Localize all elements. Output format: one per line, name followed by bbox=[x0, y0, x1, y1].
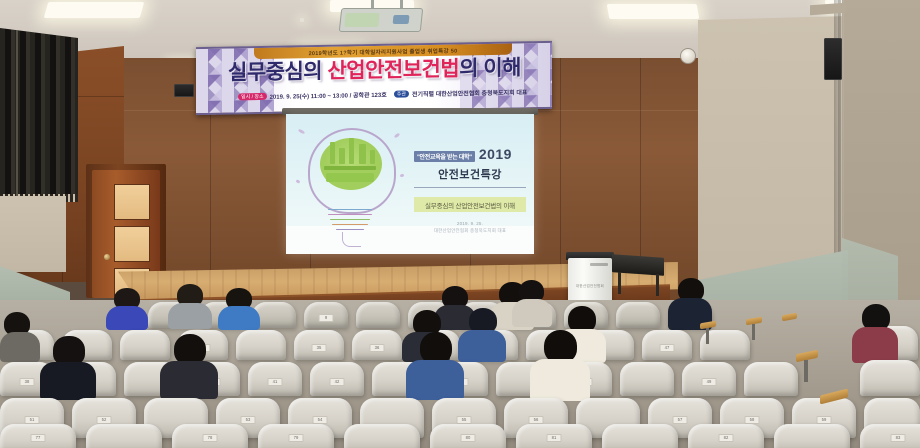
seat-number: 42 bbox=[330, 378, 345, 386]
banner-when-text: 2019. 9. 25(수) 11:00 ~ 13:00 / 공학관 123호 bbox=[270, 90, 387, 101]
city-base bbox=[326, 173, 374, 182]
audience-person bbox=[512, 280, 552, 326]
spark-icon bbox=[296, 179, 301, 184]
slide-title: 안전보건특강 bbox=[414, 166, 526, 182]
seat-number: 77 bbox=[31, 434, 46, 442]
seat[interactable]: 49 bbox=[682, 362, 736, 396]
slide-date: 2019. 9. 25. bbox=[414, 221, 526, 226]
blackout-curtain[interactable] bbox=[0, 28, 78, 200]
seat-number: 41 bbox=[268, 378, 283, 386]
seat[interactable] bbox=[236, 330, 286, 360]
seat-number: 54 bbox=[313, 416, 328, 424]
audience-person bbox=[40, 336, 96, 396]
seat[interactable] bbox=[344, 424, 420, 448]
spark-icon bbox=[400, 173, 405, 177]
seat-number: 59 bbox=[817, 416, 832, 424]
seat-number: 82 bbox=[719, 434, 734, 442]
seat-number: 81 bbox=[547, 434, 562, 442]
seat-number: 79 bbox=[289, 434, 304, 442]
banner-chip-host: 주관 bbox=[394, 90, 409, 97]
event-banner: 2019학년도 1?학기 대학일자리지원사업 졸업생 취업특강 50 실무중심의… bbox=[196, 41, 552, 115]
wall-clock-icon bbox=[680, 48, 696, 64]
slide-subtitle-band: 실무중심의 산업안전보건법의 이해 bbox=[414, 197, 526, 212]
seat[interactable] bbox=[860, 360, 920, 396]
seat-number: 36 bbox=[370, 344, 385, 352]
table-leg bbox=[618, 272, 621, 294]
seat[interactable]: 9 bbox=[304, 302, 348, 328]
seat[interactable]: 82 bbox=[688, 424, 764, 448]
city-bar bbox=[370, 150, 375, 164]
slide-year: 2019 bbox=[479, 146, 512, 162]
projection-screen: "안전교육을 받는 대학" 2019 안전보건특강 실무중심의 산업안전보건법의… bbox=[286, 114, 534, 254]
seat-number: 49 bbox=[702, 378, 717, 386]
seat-number: 47 bbox=[660, 344, 675, 352]
ceiling-light bbox=[607, 4, 700, 19]
audience-person bbox=[0, 312, 40, 360]
banner-main-title: 실무중심의 산업안전보건법의 이해 bbox=[228, 57, 521, 83]
ceiling-projector bbox=[339, 8, 424, 32]
seat-number: 38 bbox=[20, 378, 35, 386]
armrest-post bbox=[706, 328, 709, 344]
city-bar bbox=[339, 148, 345, 164]
banner-title-part3: 의 이해 bbox=[459, 56, 521, 80]
seat-number: 52 bbox=[97, 416, 112, 424]
armrest-post bbox=[804, 360, 808, 382]
seat[interactable] bbox=[774, 424, 850, 448]
seat-number: 80 bbox=[461, 434, 476, 442]
wall-speaker-icon bbox=[824, 38, 842, 80]
audience-person bbox=[106, 288, 148, 328]
seat[interactable]: 83 bbox=[860, 424, 920, 448]
seat-number: 58 bbox=[745, 416, 760, 424]
audience-person bbox=[218, 288, 260, 328]
city-bar bbox=[359, 144, 366, 164]
audience-person bbox=[668, 278, 712, 328]
seat[interactable]: 81 bbox=[516, 424, 592, 448]
seat[interactable] bbox=[356, 302, 400, 328]
left-wall-beige bbox=[0, 196, 66, 272]
audience-person bbox=[160, 334, 218, 396]
seat-number: 56 bbox=[529, 416, 544, 424]
ceiling-light bbox=[44, 2, 145, 18]
slide: "안전교육을 받는 대학" 2019 안전보건특강 실무중심의 산업안전보건법의… bbox=[286, 114, 534, 254]
audience-person bbox=[406, 332, 464, 396]
bulb-thread bbox=[328, 214, 372, 215]
banner-title-part2: 산업안전보건법 bbox=[327, 58, 459, 83]
seat[interactable] bbox=[602, 424, 678, 448]
ceiling-light bbox=[300, 18, 304, 22]
seat[interactable]: 79 bbox=[258, 424, 334, 448]
seat-number: 55 bbox=[457, 416, 472, 424]
door-knob[interactable] bbox=[104, 254, 110, 260]
curtain-rod bbox=[16, 30, 18, 198]
spark-icon bbox=[394, 133, 401, 139]
bulb-thread bbox=[330, 219, 370, 220]
seat[interactable] bbox=[744, 362, 798, 396]
seat[interactable] bbox=[620, 362, 674, 396]
seat[interactable]: 80 bbox=[430, 424, 506, 448]
door-glass-panel bbox=[114, 184, 150, 220]
table-leg bbox=[656, 274, 659, 296]
seat[interactable]: 35 bbox=[294, 330, 344, 360]
armrest-post bbox=[752, 324, 755, 340]
seat[interactable]: 36 bbox=[352, 330, 402, 360]
spark-icon bbox=[298, 128, 306, 134]
slide-org: 대한산업안전협회 충청북도지회 대표 bbox=[414, 228, 526, 234]
audience-person bbox=[168, 284, 212, 328]
city-bar bbox=[330, 142, 335, 164]
seat[interactable]: 41 bbox=[248, 362, 302, 396]
seat[interactable]: 78 bbox=[172, 424, 248, 448]
seat-number: 83 bbox=[891, 434, 906, 442]
slide-highlight-label: "안전교육을 받는 대학" bbox=[414, 151, 475, 162]
seat[interactable]: 47 bbox=[642, 330, 692, 360]
seat[interactable]: 77 bbox=[0, 424, 76, 448]
seat-number: 9 bbox=[319, 314, 334, 322]
podium-label: 대한산업안전협회 bbox=[568, 284, 612, 289]
seat-number: 51 bbox=[25, 416, 40, 424]
audience-person bbox=[458, 308, 506, 360]
door-glass-panel bbox=[114, 226, 150, 262]
seat-number: 35 bbox=[312, 344, 327, 352]
seat-number: 57 bbox=[673, 416, 688, 424]
seat-number: 53 bbox=[241, 416, 256, 424]
banner-title-part1: 실무중심의 bbox=[228, 60, 327, 85]
banner-chip-when: 일시 / 장소 bbox=[238, 93, 267, 100]
bulb-wire bbox=[342, 232, 361, 247]
seat-number: 78 bbox=[203, 434, 218, 442]
seat[interactable] bbox=[616, 302, 660, 328]
seat[interactable] bbox=[86, 424, 162, 448]
city-base bbox=[324, 166, 376, 170]
audience-person bbox=[852, 304, 898, 360]
seat[interactable]: 42 bbox=[310, 362, 364, 396]
slide-divider bbox=[414, 187, 526, 188]
lecture-hall-photo: 2019학년도 1?학기 대학일자리지원사업 졸업생 취업특강 50 실무중심의… bbox=[0, 0, 920, 448]
audience-person bbox=[530, 330, 590, 396]
wall-speaker-icon bbox=[174, 84, 194, 97]
city-bar bbox=[349, 138, 354, 164]
